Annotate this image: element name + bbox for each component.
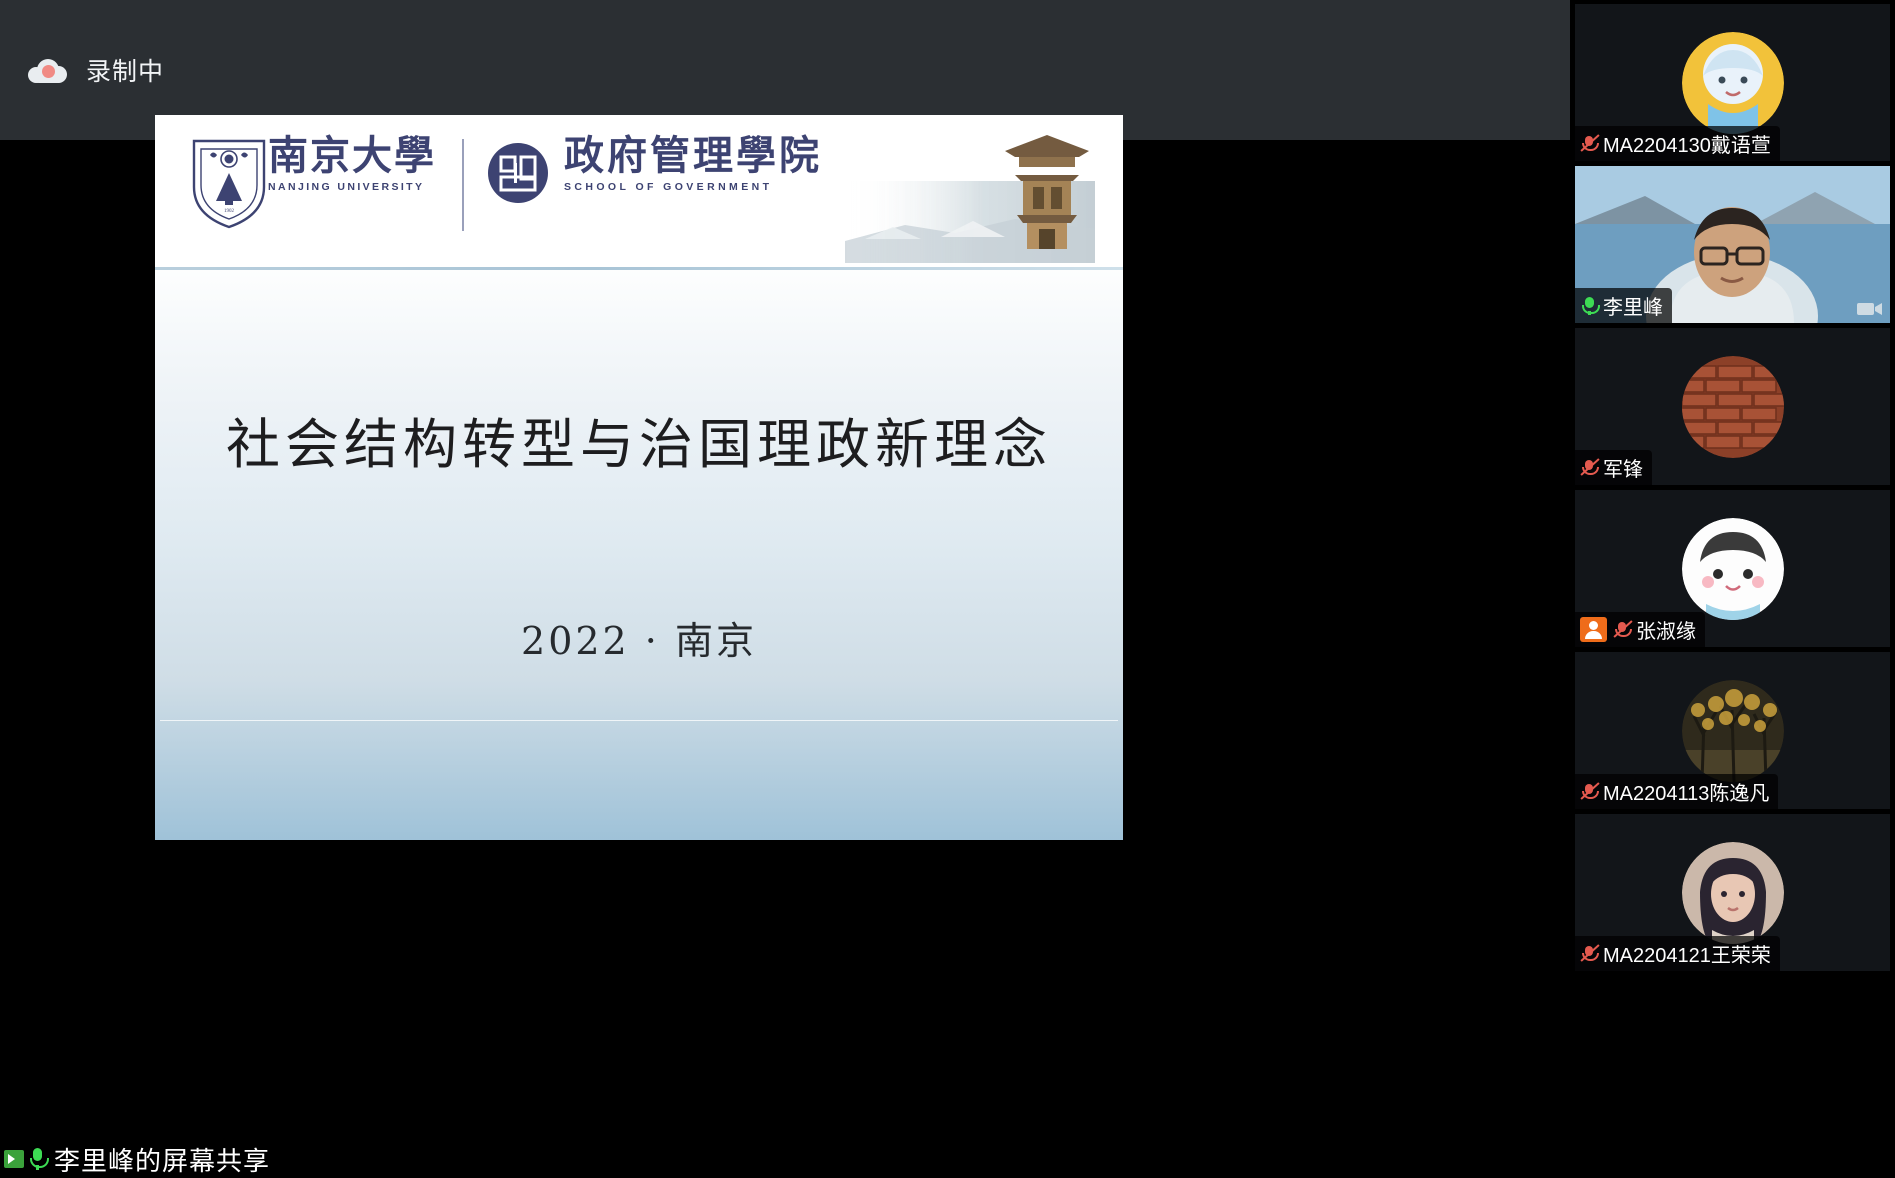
logo-divider bbox=[462, 139, 464, 231]
nju-name-block: 南京大學 NANJING UNIVERSITY bbox=[268, 135, 436, 193]
avatar bbox=[1682, 356, 1784, 458]
zoom-meeting-window: 录制中 1902 bbox=[0, 0, 1895, 1178]
name-badge: MA2204113陈逸凡 bbox=[1575, 774, 1778, 809]
microphone-on-icon[interactable] bbox=[30, 1148, 44, 1170]
slide-title: 社会结构转型与治国理政新理念 bbox=[155, 400, 1123, 479]
recording-label: 录制中 bbox=[86, 52, 164, 88]
screen-share-icon[interactable] bbox=[4, 1150, 24, 1168]
school-name: 政府管理學院 bbox=[564, 135, 822, 177]
institution-logo-row: 1902 南京大學 NANJING UNIVERSITY bbox=[190, 135, 822, 231]
participant-name: MA2204130戴语萱 bbox=[1603, 129, 1771, 158]
participant-name: MA2204121王荣荣 bbox=[1603, 939, 1771, 968]
slide-subtitle: 2022 · 南京 bbox=[155, 610, 1123, 665]
school-name-block: 政府管理學院 SCHOOL OF GOVERNMENT bbox=[564, 135, 822, 193]
participant-tile-active-speaker[interactable]: 李里峰 bbox=[1575, 166, 1890, 323]
participant-tile[interactable]: 军锋 bbox=[1575, 328, 1890, 485]
slide-bottom-rule bbox=[160, 720, 1118, 721]
svg-text:1902: 1902 bbox=[224, 209, 235, 214]
participant-tile[interactable]: 张淑缘 bbox=[1575, 490, 1890, 647]
avatar bbox=[1682, 680, 1784, 782]
name-badge: MA2204121王荣荣 bbox=[1575, 936, 1780, 971]
microphone-muted-icon bbox=[1580, 134, 1599, 153]
nanjing-university-crest-icon: 1902 bbox=[190, 135, 268, 231]
slide-body: 社会结构转型与治国理政新理念 2022 · 南京 bbox=[155, 270, 1123, 840]
slide-header: 1902 南京大學 NANJING UNIVERSITY bbox=[155, 115, 1123, 270]
participant-tile[interactable]: MA2204130戴语萱 bbox=[1575, 4, 1890, 161]
participant-rail[interactable]: MA2204130戴语萱 bbox=[1570, 0, 1895, 1178]
share-status-label: 李里峰的屏幕共享 bbox=[54, 1141, 270, 1178]
participant-name: MA2204113陈逸凡 bbox=[1603, 777, 1769, 806]
university-name: 南京大學 bbox=[268, 135, 436, 177]
school-of-government-seal-icon bbox=[486, 141, 550, 205]
participant-name: 张淑缘 bbox=[1636, 615, 1696, 644]
participant-name: 李里峰 bbox=[1603, 291, 1663, 320]
avatar bbox=[1682, 32, 1784, 134]
name-badge: MA2204130戴语萱 bbox=[1575, 126, 1780, 161]
video-status-icon bbox=[1857, 301, 1883, 317]
screen-share-status-bar: 李里峰的屏幕共享 bbox=[0, 1140, 1570, 1178]
campus-gate-illustration bbox=[845, 121, 1095, 271]
participant-name: 军锋 bbox=[1603, 453, 1643, 482]
name-badge: 军锋 bbox=[1575, 450, 1652, 485]
school-subtitle: SCHOOL OF GOVERNMENT bbox=[564, 181, 822, 193]
microphone-on-icon bbox=[1580, 296, 1599, 316]
recording-indicator[interactable]: 录制中 bbox=[28, 52, 164, 88]
host-badge-icon bbox=[1580, 617, 1607, 642]
presentation-slide: 1902 南京大學 NANJING UNIVERSITY bbox=[155, 115, 1123, 840]
participant-tile[interactable]: MA2204121王荣荣 bbox=[1575, 814, 1890, 971]
microphone-muted-icon bbox=[1580, 458, 1599, 477]
university-subtitle: NANJING UNIVERSITY bbox=[268, 181, 436, 193]
microphone-muted-icon bbox=[1613, 620, 1632, 639]
participant-tile[interactable]: MA2204113陈逸凡 bbox=[1575, 652, 1890, 809]
shared-screen-stage: 1902 南京大學 NANJING UNIVERSITY bbox=[0, 140, 1570, 1140]
avatar bbox=[1682, 842, 1784, 944]
microphone-muted-icon bbox=[1580, 782, 1599, 801]
name-badge: 张淑缘 bbox=[1575, 612, 1705, 647]
cloud-recording-icon bbox=[28, 57, 68, 83]
avatar bbox=[1682, 518, 1784, 620]
microphone-muted-icon bbox=[1580, 944, 1599, 963]
name-badge: 李里峰 bbox=[1575, 288, 1672, 323]
